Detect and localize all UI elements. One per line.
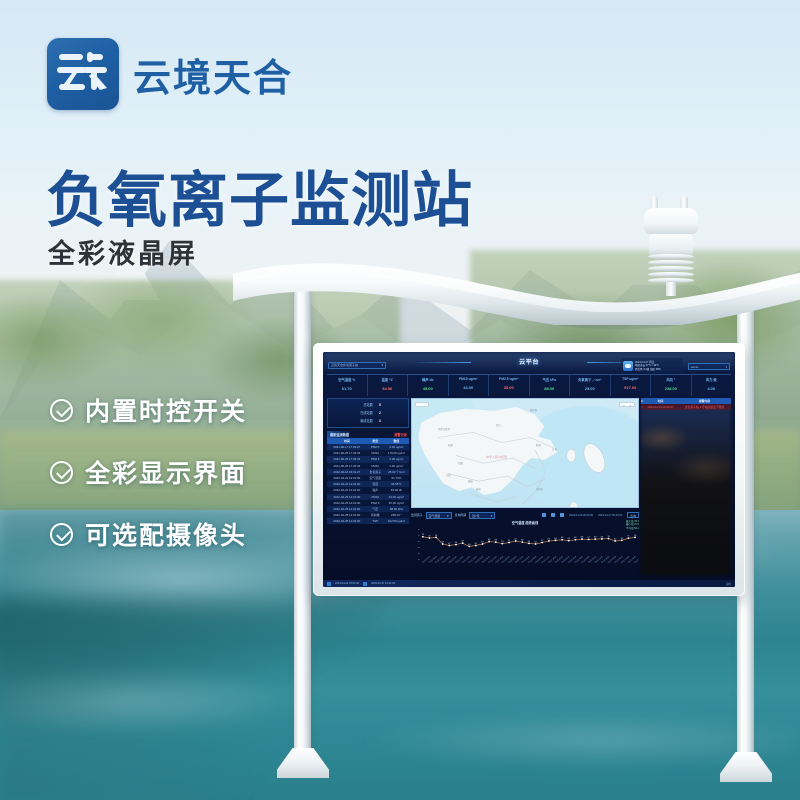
- feature-label: 可选配摄像头: [85, 516, 247, 552]
- alarm-cell: 负氧离子站 1 号站点超出下限值: [678, 404, 731, 410]
- metric-value: 34.56: [368, 386, 408, 391]
- svg-text:52: 52: [534, 541, 537, 543]
- map-place-label: 缅甸: [468, 479, 473, 483]
- check-circle-icon: [50, 461, 73, 484]
- chart-plot: 7672745247505544475260585357625854525762…: [411, 526, 639, 572]
- left-panel: 总站数5在线站数2离线站数3 最新监测数据 报警记录 时间类型数值 2021-0…: [327, 398, 409, 583]
- metric-3: 噪声 db45.00: [408, 375, 449, 396]
- table-row[interactable]: 2022-04-25 12:01:00TSP917.00 ug/m³: [327, 518, 409, 524]
- base-plate-left: [277, 748, 329, 778]
- map-place-label: 日本: [552, 447, 557, 451]
- metric-2: 温度 ℃34.56: [368, 375, 409, 396]
- map-place-label: 哈萨克斯坦: [438, 427, 450, 431]
- metrics-strip: 空气湿度 %61.70温度 ℃34.56噪声 db45.00PM10 ug/m³…: [327, 374, 731, 396]
- query-button[interactable]: 查询: [627, 512, 639, 518]
- svg-text:66: 66: [561, 537, 564, 539]
- svg-text:69: 69: [601, 536, 604, 538]
- page-subtitle: 全彩液晶屏: [48, 232, 198, 271]
- svg-text:57: 57: [508, 540, 511, 542]
- zt-monogram-icon: [47, 38, 119, 110]
- metric-1: 空气湿度 %61.70: [327, 375, 368, 396]
- svg-text:62: 62: [614, 538, 617, 540]
- site-select-dropdown[interactable]: 云境天合负氧离子站 ▾: [328, 362, 386, 369]
- metric-filter-value: 空气湿度: [429, 513, 441, 518]
- footer-right-time: 2023-04-27 12:01:00: [371, 582, 395, 585]
- metric-label: 温度 ℃: [368, 377, 408, 382]
- metric-filter-select[interactable]: 空气湿度 ▾: [426, 512, 452, 519]
- stat-key: 离线站数: [347, 417, 373, 425]
- svg-text:76: 76: [422, 534, 425, 536]
- weather-line-2: 西北风 3-4级 湿度 38%: [635, 368, 661, 371]
- svg-text:62: 62: [514, 538, 517, 540]
- metric-filter-label: 监测因子: [411, 513, 423, 517]
- chevron-down-icon: ▾: [491, 513, 492, 518]
- metric-value: 35.00: [489, 385, 529, 390]
- svg-text:74: 74: [634, 535, 637, 537]
- metric-label: 空气湿度 %: [327, 377, 367, 382]
- svg-text:47: 47: [448, 543, 451, 545]
- svg-text:64: 64: [554, 538, 557, 540]
- end-time-value[interactable]: 2023-04-27 00:00:00: [598, 514, 622, 517]
- metric-8: TSP ug/m³917.00: [611, 375, 652, 396]
- cloud-icon: [623, 361, 633, 371]
- range-filter-select[interactable]: 近7天 ▾: [469, 512, 495, 519]
- map-place-label: 印度: [446, 473, 451, 477]
- map-place-label: 泰国: [476, 487, 481, 491]
- metric-value: 25.00: [570, 386, 610, 391]
- stat-value: 5: [379, 401, 389, 409]
- svg-text:68: 68: [581, 537, 584, 539]
- feature-label: 内置时控开关: [85, 392, 247, 428]
- metric-7: 负氧离子 ／cm³25.00: [570, 375, 611, 396]
- records-table[interactable]: 时间类型数值 2021-06-17 17:36:27PM2.50.00 ug/m…: [327, 438, 409, 524]
- site-select-value: 云境天合负氧离子站: [331, 362, 358, 369]
- svg-text:60: 60: [488, 539, 491, 541]
- alarm-records-link[interactable]: 报警记录: [394, 432, 409, 437]
- svg-text:47: 47: [475, 543, 478, 545]
- metric-value: 4.00: [692, 386, 732, 391]
- map-borders: [412, 399, 638, 508]
- stat-value: 2: [379, 409, 389, 417]
- feature-item-2: 全彩显示界面: [50, 454, 247, 490]
- weather-line-1: 晴转多云 27℃ / 16℃: [635, 364, 661, 367]
- status-square-icon: [327, 582, 331, 586]
- svg-text:58: 58: [521, 540, 524, 542]
- cloud-platform-dashboard[interactable]: 云平台 云境天合负氧离子站 ▾ 2023-04-27 周四 晴转多云 27℃ /…: [323, 352, 735, 587]
- svg-text:68: 68: [594, 537, 597, 539]
- status-square-icon-2: [363, 582, 367, 586]
- chevron-down-icon: ▾: [447, 513, 448, 518]
- dashboard-footer: 2023-04-24 15:01:00 2023-04-27 12:01:00 …: [323, 580, 735, 587]
- svg-text:66: 66: [574, 537, 577, 539]
- chart-toolbar: 监测因子 空气湿度 ▾ 查询周期 近7天 ▾: [411, 511, 639, 519]
- zoom-in-button[interactable]: +: [627, 403, 634, 406]
- feature-label: 全彩显示界面: [85, 454, 247, 490]
- svg-text:74: 74: [435, 535, 438, 537]
- map-place-label: 蒙古: [496, 423, 501, 427]
- map-place-label: 菲律宾: [536, 487, 543, 491]
- svg-text:70: 70: [607, 536, 610, 538]
- metric-value: 238.00: [651, 386, 691, 391]
- zoom-out-button[interactable]: —: [620, 403, 627, 406]
- metric-label: 风向 °: [651, 377, 691, 382]
- alarm-panel: #时间报警内容 12023-04-10 16:20:27负氧离子站 1 号站点超…: [641, 398, 731, 583]
- china-map[interactable]: 中华人民共和国 蒙古俄罗斯哈萨克斯坦新疆西藏印度日本韩国缅甸泰国菲律宾 — +: [411, 398, 639, 508]
- stat-row-1: 总站数5: [328, 401, 408, 409]
- weather-widget: 2023-04-27 周四 晴转多云 27℃ / 16℃ 西北风 3-4级 湿度…: [621, 358, 683, 373]
- chevron-down-icon: ▾: [381, 362, 383, 369]
- svg-text:52: 52: [441, 541, 444, 543]
- feature-list: 内置时控开关全彩显示界面可选配摄像头: [50, 392, 247, 578]
- line-chart-icon[interactable]: [542, 513, 546, 517]
- brand-name: 云境天合: [133, 47, 293, 102]
- range-filter-label: 查询周期: [455, 513, 467, 517]
- map-zoom-controls[interactable]: — +: [619, 402, 635, 407]
- brand-logo-row: 云境天合: [47, 38, 293, 110]
- user-menu[interactable]: admin ▾: [688, 363, 730, 370]
- range-filter-value: 近7天: [472, 513, 479, 518]
- metric-5: PM2.5 ug/m³35.00: [489, 375, 530, 396]
- svg-text:67: 67: [587, 537, 590, 539]
- svg-text:44: 44: [468, 544, 471, 546]
- table-cell: 2022-04-25 12:01:00: [327, 518, 367, 524]
- metric-label: PM10 ug/m³: [449, 377, 489, 381]
- svg-text:72: 72: [428, 535, 431, 537]
- station-stats-card: 总站数5在线站数2离线站数3: [327, 398, 409, 428]
- lcd-display-frame: 云平台 云境天合负氧离子站 ▾ 2023-04-27 周四 晴转多云 27℃ /…: [313, 343, 745, 596]
- stat-key: 在线站数: [347, 409, 373, 417]
- export-icon[interactable]: [560, 513, 564, 517]
- metric-label: 风力 级: [692, 377, 732, 382]
- svg-text:55: 55: [461, 541, 464, 543]
- metric-label: 噪声 db: [408, 377, 448, 382]
- metric-label: 负氧离子 ／cm³: [570, 377, 610, 382]
- map-place-label: 西藏: [458, 461, 463, 465]
- check-circle-icon: [50, 399, 73, 422]
- svg-text:63: 63: [568, 538, 571, 540]
- metric-value: 917.00: [611, 385, 651, 390]
- center-panel: 中华人民共和国 蒙古俄罗斯哈萨克斯坦新疆西藏印度日本韩国缅甸泰国菲律宾 — + …: [411, 398, 639, 583]
- base-plate-right: [720, 752, 772, 782]
- metric-value: 45.00: [408, 386, 448, 391]
- svg-text:54: 54: [528, 541, 531, 543]
- metric-value: 61.70: [327, 386, 367, 391]
- page-title: 负氧离子监测站: [46, 152, 473, 239]
- alarm-panel-photo: [641, 408, 731, 575]
- map-country-label: 中华人民共和国: [486, 455, 507, 459]
- stat-row-2: 在线站数2: [328, 409, 408, 417]
- stat-row-3: 离线站数3: [328, 417, 408, 425]
- bar-chart-icon[interactable]: [551, 513, 555, 517]
- svg-text:50: 50: [455, 542, 458, 544]
- metric-6: 气压 kPa88.00: [530, 375, 571, 396]
- feature-item-1: 内置时控开关: [50, 392, 247, 428]
- chevron-down-icon: ▾: [726, 364, 727, 369]
- footer-tag: 实时: [726, 582, 731, 586]
- metric-9: 风向 °238.00: [651, 375, 692, 396]
- chart-title: 空气湿度 趋势曲线: [411, 520, 639, 525]
- map-layer-control[interactable]: [415, 402, 429, 407]
- records-title: 最新监测数据: [327, 431, 352, 438]
- table-cell: TSP: [367, 518, 384, 524]
- metric-label: 气压 kPa: [530, 377, 570, 382]
- stat-value: 3: [379, 417, 389, 425]
- alarm-row[interactable]: 12023-04-10 16:20:27负氧离子站 1 号站点超出下限值: [641, 404, 731, 410]
- map-place-label: 新疆: [448, 443, 453, 447]
- metric-4: PM10 ug/m³43.00: [449, 375, 490, 396]
- metric-label: PM2.5 ug/m³: [489, 377, 529, 381]
- ultrasonic-weather-sensor-icon: [640, 196, 702, 292]
- map-place-label: 韩国: [536, 443, 541, 447]
- stat-key: 总站数: [347, 401, 373, 409]
- user-name: admin: [691, 364, 699, 369]
- feature-item-3: 可选配摄像头: [50, 516, 247, 552]
- svg-text:62: 62: [548, 538, 551, 540]
- svg-text:58: 58: [495, 540, 498, 542]
- svg-text:64: 64: [621, 538, 624, 540]
- trend-chart[interactable]: 空气湿度 趋势曲线 最大值 78.2最小值 31.5平均值 58.4 76727…: [411, 520, 639, 582]
- metric-10: 风力 级4.00: [692, 375, 732, 396]
- footer-left-time: 2023-04-24 15:01:00: [335, 582, 359, 585]
- records-header: 最新监测数据 报警记录: [327, 431, 409, 438]
- start-time-value[interactable]: 2023-04-20 00:00:00: [569, 514, 593, 517]
- metric-value: 88.00: [530, 386, 570, 391]
- svg-text:71: 71: [627, 536, 630, 538]
- alarm-table[interactable]: #时间报警内容 12023-04-10 16:20:27负氧离子站 1 号站点超…: [641, 398, 731, 410]
- metric-value: 43.00: [449, 385, 489, 390]
- table-cell: 917.00 ug/m³: [384, 518, 409, 524]
- svg-text:57: 57: [541, 540, 544, 542]
- lcd-screen[interactable]: 云平台 云境天合负氧离子站 ▾ 2023-04-27 周四 晴转多云 27℃ /…: [323, 352, 735, 587]
- check-circle-icon: [50, 523, 73, 546]
- alarm-cell: 2023-04-10 16:20:27: [643, 404, 678, 410]
- support-post-left: [294, 285, 311, 763]
- map-place-label: 俄罗斯: [530, 408, 537, 412]
- metric-label: TSP ug/m³: [611, 377, 651, 381]
- svg-text:53: 53: [501, 541, 504, 543]
